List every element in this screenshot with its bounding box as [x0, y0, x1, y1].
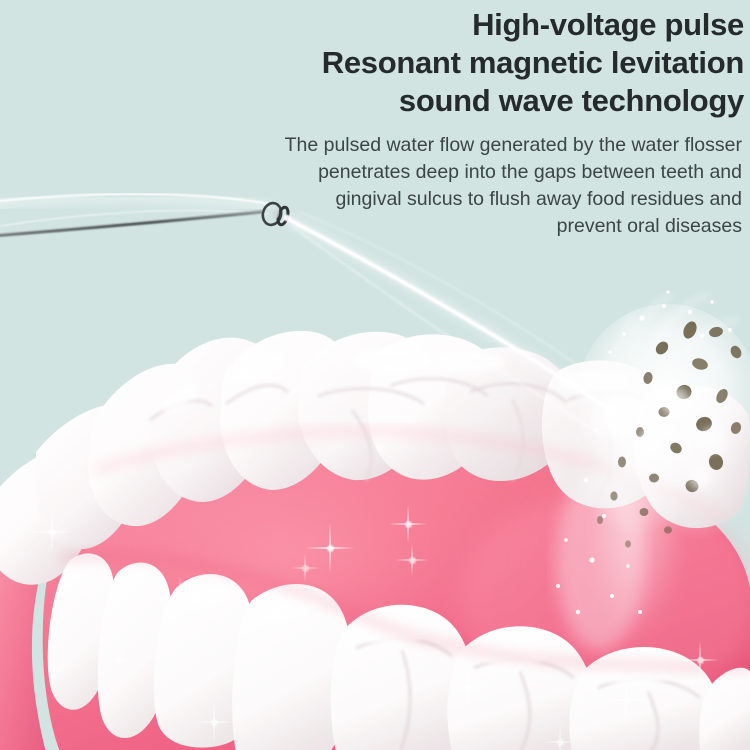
headline-line-2: Resonant magnetic levitation	[188, 44, 748, 82]
headline-line-3: sound wave technology	[188, 82, 748, 120]
body-copy-line-2: penetrates deep into the gaps between te…	[202, 159, 742, 186]
body-copy-line-1: The pulsed water flow generated by the w…	[202, 132, 742, 159]
product-feature-banner: High-voltage pulse Resonant magnetic lev…	[0, 0, 750, 750]
body-copy-line-3: gingival sulcus to flush away food resid…	[202, 186, 742, 213]
body-copy-line-4: prevent oral diseases	[202, 213, 742, 240]
body-copy: The pulsed water flow generated by the w…	[202, 132, 748, 240]
text-block: High-voltage pulse Resonant magnetic lev…	[188, 0, 750, 240]
headline-line-1: High-voltage pulse	[188, 6, 748, 44]
